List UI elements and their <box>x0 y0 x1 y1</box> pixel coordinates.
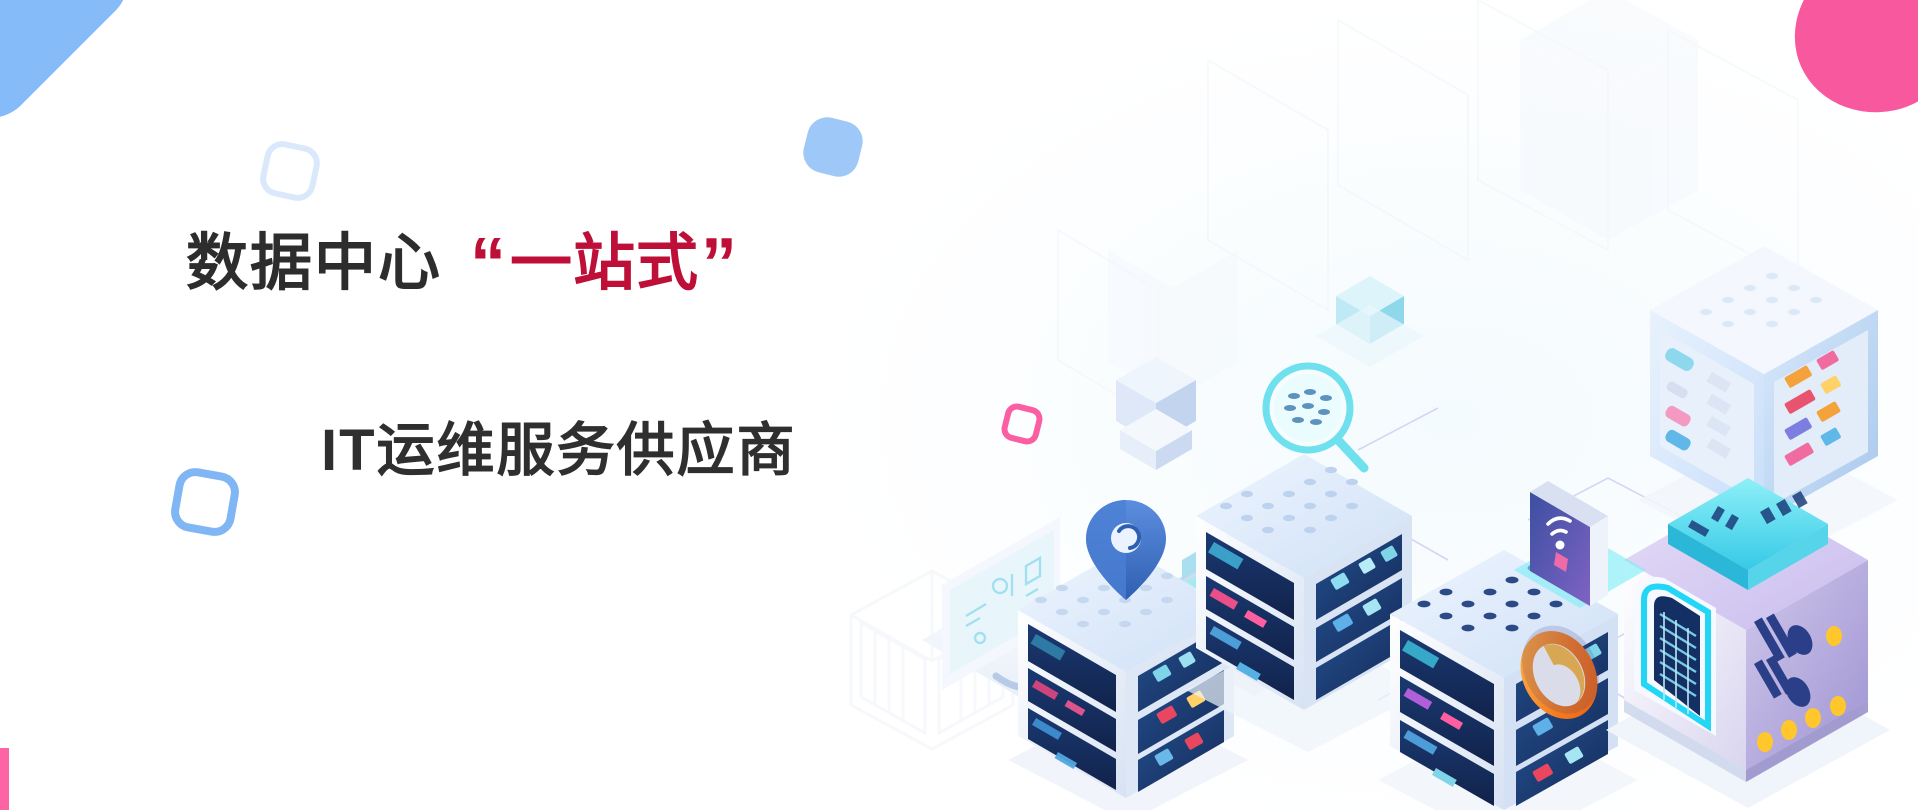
corner-blue-shape <box>0 0 145 135</box>
quote-close: ” <box>701 224 739 304</box>
bottom-pink-bar <box>0 748 9 810</box>
dot-blue-square <box>799 113 867 181</box>
server-cabinet-large <box>1606 478 1890 808</box>
cube-node-small <box>1116 357 1196 470</box>
search-magnifier-icon <box>1266 366 1364 468</box>
headline-prefix: 数据中心 <box>186 229 442 298</box>
headline-highlight: 一站式 <box>510 229 699 298</box>
ring-light-blue-icon <box>257 138 323 204</box>
isometric-data-center-illustration <box>908 0 1918 810</box>
hero-banner: 数据中心“一站式” IT运维服务供应商 <box>0 0 1918 810</box>
cube-node-cyan <box>1316 276 1424 367</box>
quote-open: “ <box>470 224 508 304</box>
